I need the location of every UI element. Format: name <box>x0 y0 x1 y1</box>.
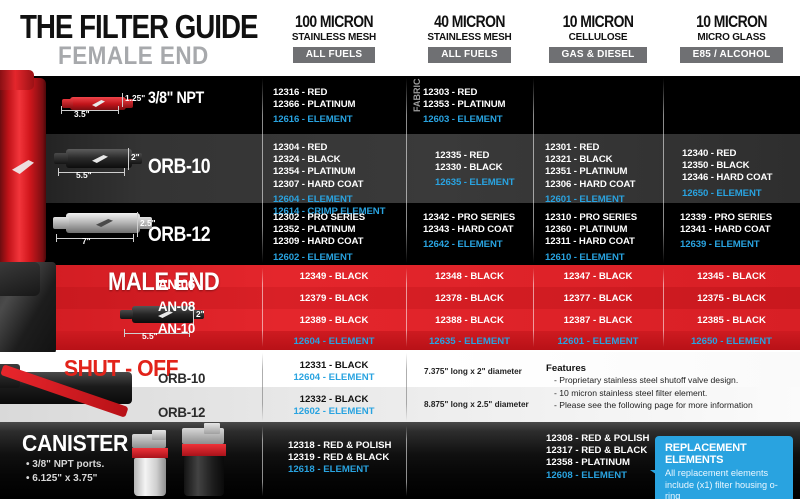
dimension-tick <box>124 168 125 176</box>
part-number: 12354 - PLATINUM <box>273 166 385 178</box>
canister-image-polish <box>124 434 180 496</box>
male-size-label-an06: AN-06 <box>158 276 195 292</box>
table-cell-npt-100micron: 12316 - RED 12366 - PLATINUM 12616 - ELE… <box>273 87 355 127</box>
dimension-line-diameter-orb10 <box>128 148 129 170</box>
canister-mount-tab <box>152 430 166 440</box>
part-number: 12324 - BLACK <box>273 154 385 166</box>
dimension-length-male: 5.5" <box>142 331 158 341</box>
dimension-length-orb12: 7" <box>82 236 91 246</box>
column-header-10-micron-micro-glass: 10 MICRON MICRO GLASS E85 / ALCOHOL <box>663 13 800 63</box>
male-cell-an06-100micron: 12349 - BLACK <box>262 271 406 282</box>
part-number: 12331 - BLACK <box>262 360 406 372</box>
dimension-tick <box>56 234 57 242</box>
male-cell-an10-100micron: 12389 - BLACK <box>262 315 406 326</box>
part-number: 12366 - PLATINUM <box>273 99 355 111</box>
shut-off-dimension-orb10: 7.375" long x 2" diameter <box>424 367 522 376</box>
part-number: 12342 - PRO SERIES <box>423 212 515 224</box>
male-cell-an08-cellulose: 12377 - BLACK <box>533 293 663 304</box>
column-media-label: STAINLESS MESH <box>266 31 403 44</box>
part-number: 12346 - HARD COAT <box>682 172 772 184</box>
element-part-number: 12635 - ELEMENT <box>435 177 515 189</box>
element-part-number: 12604 - ELEMENT <box>273 194 385 206</box>
shut-off-cell-orb12: 12332 - BLACK 12602 - ELEMENT <box>262 394 406 417</box>
shut-off-size-label-orb10: ORB-10 <box>158 370 205 386</box>
male-element-100micron: 12604 - ELEMENT <box>262 336 406 347</box>
table-cell-orb10-100micron: 12304 - RED 12324 - BLACK 12354 - PLATIN… <box>273 142 385 218</box>
column-divider-1 <box>262 426 263 496</box>
element-part-number: 12604 - ELEMENT <box>262 372 406 384</box>
shut-off-dimension-orb12: 8.875" long x 2.5" diameter <box>424 400 529 409</box>
part-number: 12351 - PLATINUM <box>545 166 635 178</box>
element-part-number: 12642 - ELEMENT <box>423 239 515 251</box>
canister-cell-100micron: 12318 - RED & POLISH 12319 - RED & BLACK… <box>288 440 391 477</box>
canister-ring <box>182 444 226 456</box>
part-number: 12350 - BLACK <box>682 160 772 172</box>
feature-item: - Proprietary stainless steel shutoff va… <box>546 374 753 387</box>
filter-endcap-left <box>53 217 69 229</box>
column-micron-label: 10 MICRON <box>675 13 787 31</box>
part-number: 12352 - PLATINUM <box>273 224 365 236</box>
column-divider-3 <box>533 78 534 263</box>
part-number: 12308 - RED & POLISH <box>546 433 649 445</box>
male-cell-an08-100micron: 12379 - BLACK <box>262 293 406 304</box>
fabric-label: FABRIC <box>412 79 422 113</box>
column-divider-2 <box>406 426 407 496</box>
filter-endcap-left <box>54 153 68 164</box>
male-end-fitting-art <box>0 262 40 296</box>
shut-off-cell-orb10: 12331 - BLACK 12604 - ELEMENT <box>262 360 406 383</box>
female-end-table: 3/8" NPT ORB-10 ORB-12 FABRIC 3.5" 1.25"… <box>0 76 800 265</box>
part-number: 12335 - RED <box>435 150 515 162</box>
dimension-line-length-orb12 <box>56 238 134 239</box>
features-title: Features <box>546 363 753 374</box>
column-fuel-badge: E85 / ALCOHOL <box>680 47 784 63</box>
column-media-label: MICRO GLASS <box>666 31 796 44</box>
dimension-tick <box>133 234 134 242</box>
part-number: 12318 - RED & POLISH <box>288 440 391 452</box>
part-number: 12319 - RED & BLACK <box>288 452 391 464</box>
dimension-length-orb10: 5.5" <box>76 170 92 180</box>
male-element-cellulose: 12601 - ELEMENT <box>533 336 663 347</box>
part-number: 12353 - PLATINUM <box>423 99 505 111</box>
male-cell-an10-cellulose: 12387 - BLACK <box>533 315 663 326</box>
canister-mount-tab <box>204 423 220 434</box>
column-divider-4 <box>663 78 664 263</box>
part-number: 12343 - HARD COAT <box>423 224 515 236</box>
canister-body <box>184 456 224 496</box>
part-number: 12317 - RED & BLACK <box>546 445 649 457</box>
table-cell-orb10-microglass: 12340 - RED 12350 - BLACK 12346 - HARD C… <box>682 148 772 200</box>
part-number: 12301 - RED <box>545 142 635 154</box>
dimension-tick <box>61 106 62 114</box>
part-number: 12303 - RED <box>423 87 505 99</box>
male-cell-an06-microglass: 12345 - BLACK <box>663 271 800 282</box>
callout-line-2: include (x1) filter housing o-ring <box>665 480 785 499</box>
dimension-tick <box>118 106 119 114</box>
part-number: 12311 - HARD COAT <box>545 236 637 248</box>
male-size-label-an10: AN-10 <box>158 320 195 336</box>
dimension-diameter-orb10: 2" <box>131 152 140 162</box>
male-cell-an06-40micron: 12348 - BLACK <box>406 271 533 282</box>
feature-item: - Please see the following page for more… <box>546 399 753 412</box>
canister-cell-cellulose: 12308 - RED & POLISH 12317 - RED & BLACK… <box>546 433 649 482</box>
canister-image-black <box>176 428 238 496</box>
column-fuel-badge: GAS & DIESEL <box>549 47 648 63</box>
part-number: 12321 - BLACK <box>545 154 635 166</box>
callout-line-1: All replacement elements <box>665 468 785 480</box>
page-header: THE FILTER GUIDE FEMALE END 100 MICRON S… <box>0 0 800 76</box>
part-number: 12332 - BLACK <box>262 394 406 406</box>
canister-title: CANISTER <box>22 432 128 455</box>
column-media-label: CELLULOSE <box>536 31 660 44</box>
row-size-label-npt: 3/8" NPT <box>148 88 204 108</box>
filter-endcap-left <box>120 310 133 319</box>
column-micron-label: 10 MICRON <box>545 13 652 31</box>
table-cell-orb12-100micron: 12302 - PRO SERIES 12352 - PLATINUM 1230… <box>273 212 365 264</box>
replacement-elements-callout: REPLACEMENT ELEMENTS All replacement ele… <box>655 436 793 499</box>
table-cell-orb12-microglass: 12339 - PRO SERIES 12341 - HARD COAT 126… <box>680 212 772 252</box>
dimension-line-diameter-npt <box>122 93 123 107</box>
canister-bullet-ports: • 3/8" NPT ports. <box>26 459 104 470</box>
column-divider-2 <box>406 353 407 421</box>
male-size-label-an08: AN-08 <box>158 298 195 314</box>
element-part-number: 12618 - ELEMENT <box>288 464 391 476</box>
column-media-label: STAINLESS MESH <box>409 31 530 44</box>
column-micron-label: 100 MICRON <box>275 13 393 31</box>
column-divider-1 <box>262 78 263 263</box>
dimension-tick <box>58 168 59 176</box>
element-part-number: 12602 - ELEMENT <box>262 406 406 418</box>
column-fuel-badge: ALL FUELS <box>293 47 376 63</box>
table-cell-orb10-cellulose: 12301 - RED 12321 - BLACK 12351 - PLATIN… <box>545 142 635 206</box>
part-number: 12310 - PRO SERIES <box>545 212 637 224</box>
filter-guide-page: THE FILTER GUIDE FEMALE END 100 MICRON S… <box>0 0 800 499</box>
dimension-length-npt: 3.5" <box>74 109 90 119</box>
table-cell-npt-40micron: 12303 - RED 12353 - PLATINUM 12603 - ELE… <box>423 87 505 127</box>
element-part-number: 12639 - ELEMENT <box>680 239 772 251</box>
red-canister-top-art <box>0 70 34 90</box>
column-header-10-micron-cellulose: 10 MICRON CELLULOSE GAS & DIESEL <box>533 13 663 63</box>
table-cell-orb12-40micron: 12342 - PRO SERIES 12343 - HARD COAT 126… <box>423 212 515 252</box>
dimension-diameter-npt: 1.25" <box>125 93 145 103</box>
element-part-number: 12616 - ELEMENT <box>273 114 355 126</box>
shut-off-size-label-orb12: ORB-12 <box>158 404 205 420</box>
dimension-tick <box>124 329 125 337</box>
male-cell-an08-40micron: 12378 - BLACK <box>406 293 533 304</box>
dimension-diameter-orb12: 2.5" <box>140 218 156 228</box>
part-number: 12360 - PLATINUM <box>545 224 637 236</box>
element-part-number: 12608 - ELEMENT <box>546 470 649 482</box>
dimension-line-diameter-orb12 <box>137 212 138 237</box>
filter-endcap-left <box>62 99 73 108</box>
page-title: THE FILTER GUIDE <box>20 10 257 43</box>
element-part-number: 12602 - ELEMENT <box>273 252 365 264</box>
female-end-subtitle: FEMALE END <box>58 44 209 69</box>
part-number: 12309 - HARD COAT <box>273 236 365 248</box>
part-number: 12302 - PRO SERIES <box>273 212 365 224</box>
part-number: 12304 - RED <box>273 142 385 154</box>
column-fuel-badge: ALL FUELS <box>428 47 511 63</box>
part-number: 12339 - PRO SERIES <box>680 212 772 224</box>
male-cell-an06-cellulose: 12347 - BLACK <box>533 271 663 282</box>
male-cell-an10-40micron: 12388 - BLACK <box>406 315 533 326</box>
part-number: 12306 - HARD COAT <box>545 179 635 191</box>
male-cell-an08-microglass: 12375 - BLACK <box>663 293 800 304</box>
column-micron-label: 40 MICRON <box>417 13 521 31</box>
part-number: 12340 - RED <box>682 148 772 160</box>
element-part-number: 12603 - ELEMENT <box>423 114 505 126</box>
dimension-line-length-npt <box>61 110 119 111</box>
callout-title: REPLACEMENT ELEMENTS <box>665 442 785 466</box>
part-number: 12358 - PLATINUM <box>546 457 649 469</box>
canister-ring <box>132 448 168 458</box>
dimension-diameter-male: 2" <box>196 309 205 319</box>
male-cell-an10-microglass: 12385 - BLACK <box>663 315 800 326</box>
part-number: 12341 - HARD COAT <box>680 224 772 236</box>
part-number: 12316 - RED <box>273 87 355 99</box>
column-header-100-micron: 100 MICRON STAINLESS MESH ALL FUELS <box>262 13 406 63</box>
element-part-number: 12601 - ELEMENT <box>545 194 635 206</box>
canister-body <box>134 458 166 496</box>
element-part-number: 12650 - ELEMENT <box>682 188 772 200</box>
column-divider-2 <box>406 78 407 263</box>
part-number: 12307 - HARD COAT <box>273 179 385 191</box>
table-cell-orb10-40micron: 12335 - RED 12330 - BLACK 12635 - ELEMEN… <box>435 150 515 190</box>
part-number: 12330 - BLACK <box>435 162 515 174</box>
canister-bullet-size: • 6.125" x 3.75" <box>26 473 97 484</box>
table-cell-orb12-cellulose: 12310 - PRO SERIES 12360 - PLATINUM 1231… <box>545 212 637 264</box>
column-header-40-micron: 40 MICRON STAINLESS MESH ALL FUELS <box>406 13 533 63</box>
male-element-microglass: 12650 - ELEMENT <box>663 336 800 347</box>
male-element-40micron: 12635 - ELEMENT <box>406 336 533 347</box>
feature-item: - 10 micron stainless steel filter eleme… <box>546 387 753 400</box>
element-part-number: 12610 - ELEMENT <box>545 252 637 264</box>
features-block: Features - Proprietary stainless steel s… <box>546 363 753 412</box>
